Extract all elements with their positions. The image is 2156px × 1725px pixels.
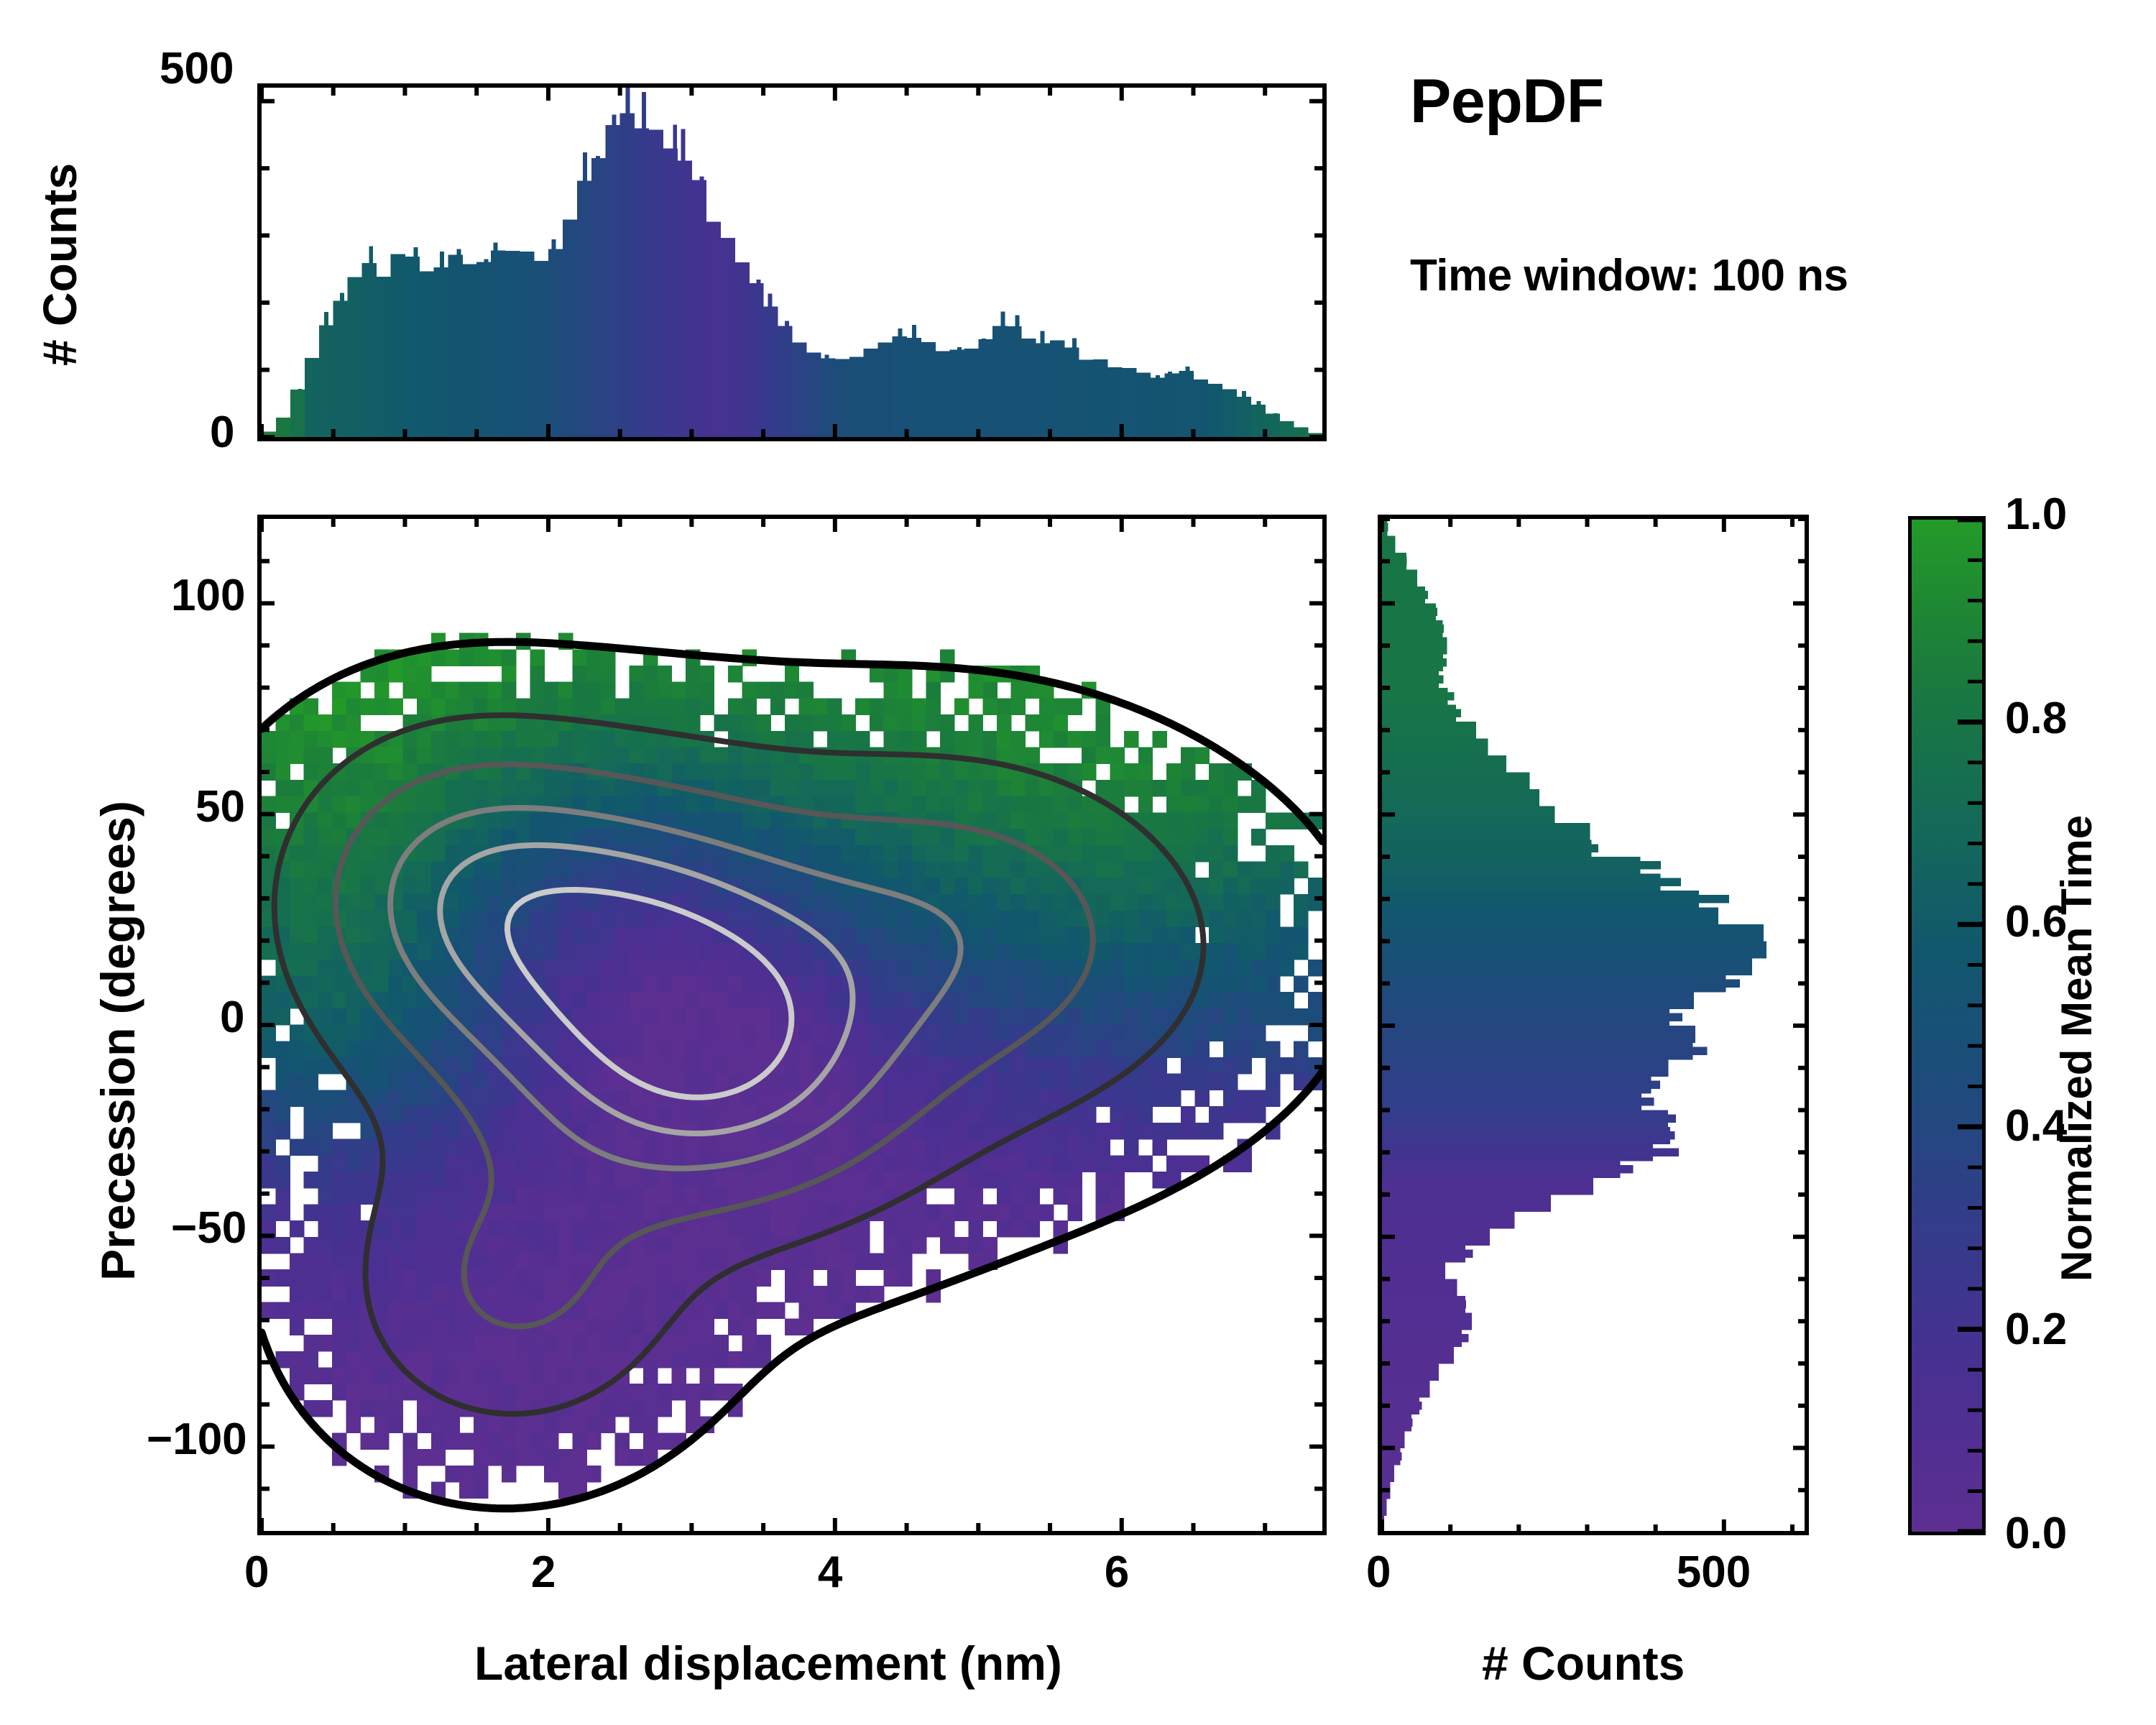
main-ytick-50: 50 — [195, 781, 245, 832]
top-hist-ytick-500: 500 — [160, 43, 234, 94]
colorbar-tick-0p8: 0.8 — [2005, 693, 2067, 744]
main-xlabel: Lateral displacement (nm) — [474, 1636, 1062, 1690]
top-hist-ylabel: # Counts — [32, 163, 87, 366]
colorbar-tick-0p0: 0.0 — [2005, 1508, 2067, 1559]
main-xtick-6: 6 — [1105, 1547, 1129, 1598]
main-xtick-0: 0 — [244, 1547, 269, 1598]
main-heatmap-panel — [257, 515, 1327, 1535]
colorbar — [1908, 516, 1986, 1535]
colorbar-tick-1p0: 1.0 — [2005, 489, 2067, 540]
top-hist-ytick-0: 0 — [210, 407, 234, 458]
time-window-subtitle: Time window: 100 ns — [1410, 250, 1848, 301]
colorbar-gradient — [1912, 520, 1982, 1532]
figure-root: 500 0 # Counts PepDF Time window: 100 ns… — [0, 0, 2156, 1725]
colorbar-label: Normalized Mean Time — [2052, 815, 2101, 1282]
main-ytick-0: 0 — [220, 992, 244, 1043]
right-hist-xtick-500: 500 — [1677, 1547, 1751, 1598]
main-heatmap-canvas — [262, 519, 1322, 1531]
colorbar-tick-0p4: 0.4 — [2005, 1100, 2067, 1151]
colorbar-tick-0p6: 0.6 — [2005, 896, 2067, 947]
right-histogram-panel — [1378, 515, 1809, 1535]
right-hist-xtick-0: 0 — [1366, 1547, 1391, 1598]
main-ylabel: Precession (degrees) — [91, 801, 145, 1281]
main-xtick-2: 2 — [531, 1547, 556, 1598]
main-xtick-4: 4 — [818, 1547, 842, 1598]
right-hist-xlabel: # Counts — [1482, 1636, 1685, 1690]
main-ytick-neg50: −50 — [171, 1202, 247, 1253]
colorbar-tick-0p2: 0.2 — [2005, 1304, 2067, 1355]
top-histogram-canvas — [262, 88, 1322, 437]
top-histogram-panel — [257, 83, 1327, 441]
main-ytick-neg100: −100 — [147, 1414, 247, 1465]
main-ytick-100: 100 — [171, 570, 245, 621]
right-histogram-canvas — [1382, 519, 1806, 1532]
page-title: PepDF — [1410, 66, 1604, 137]
